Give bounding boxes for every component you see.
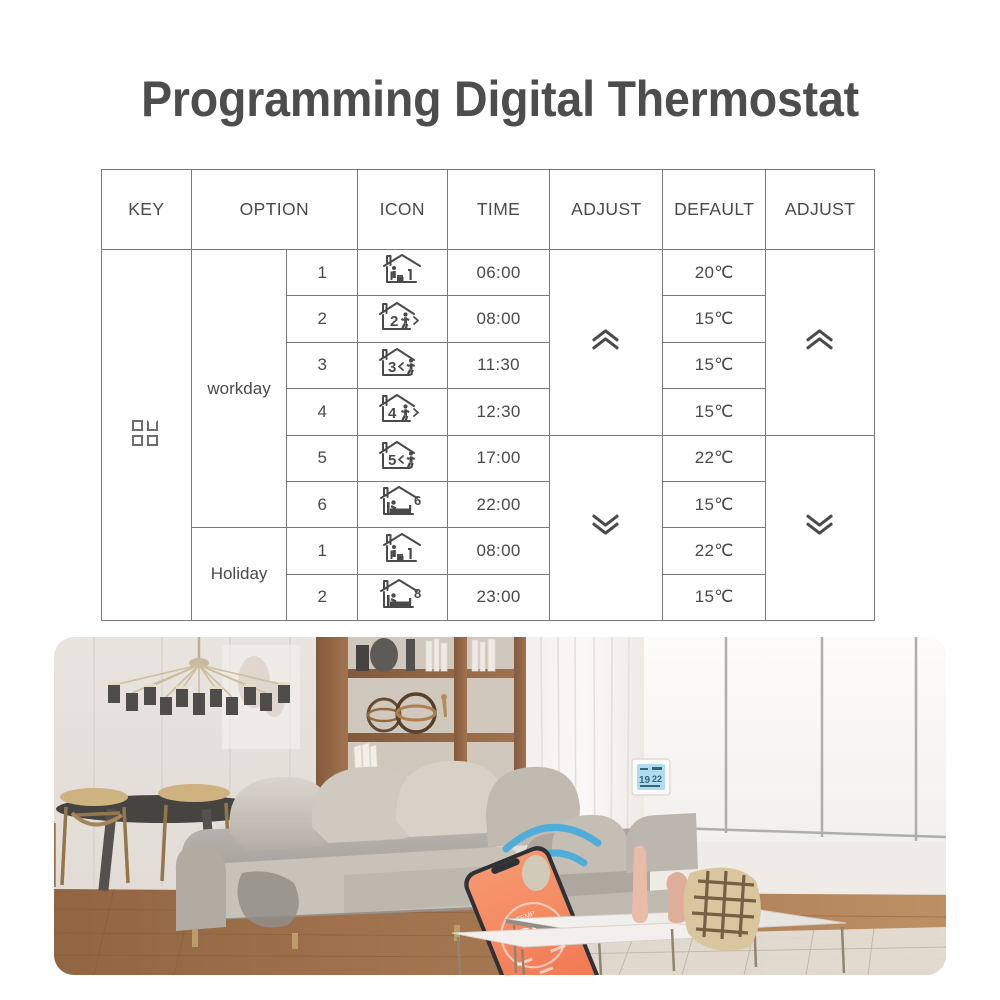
time-value: 08:00 xyxy=(447,296,550,342)
option-number: 6 xyxy=(287,481,358,527)
table-row: workday 1 xyxy=(102,250,875,296)
svg-text:8: 8 xyxy=(414,586,421,601)
thermostat-program-table: KEY OPTION ICON TIME ADJUST DEFAULT ADJU… xyxy=(101,169,875,621)
option-group-workday: workday xyxy=(191,250,287,528)
time-value: 12:30 xyxy=(447,389,550,435)
double-chevron-up-icon[interactable] xyxy=(766,250,875,436)
table-row: Holiday 1 xyxy=(102,528,875,574)
house-wakeup-1-icon xyxy=(357,528,447,574)
house-leave-4-icon: 4 xyxy=(357,389,447,435)
time-value: 08:00 xyxy=(447,528,550,574)
house-wakeup-1-icon xyxy=(357,250,447,296)
option-number: 1 xyxy=(287,528,358,574)
option-number: 4 xyxy=(287,389,358,435)
option-number: 2 xyxy=(287,574,358,620)
column-header-key: KEY xyxy=(102,170,192,250)
option-group-holiday: Holiday xyxy=(191,528,287,621)
svg-text:2: 2 xyxy=(390,313,398,330)
time-value: 23:00 xyxy=(447,574,550,620)
column-header-default: DEFAULT xyxy=(663,170,766,250)
column-header-adjust-temp: ADJUST xyxy=(766,170,875,250)
svg-text:3: 3 xyxy=(388,359,396,376)
column-header-icon: ICON xyxy=(357,170,447,250)
house-sleep-2-icon: 8 xyxy=(357,574,447,620)
option-number: 3 xyxy=(287,342,358,388)
living-room-photo: 19 22 35 TEMP xyxy=(54,637,946,975)
house-sleep-6-icon: 6 xyxy=(357,481,447,527)
default-temp-value: 15℃ xyxy=(663,574,766,620)
house-leave-2-icon: 2 xyxy=(357,296,447,342)
house-return-5-icon: 5 xyxy=(357,435,447,481)
time-value: 22:00 xyxy=(447,481,550,527)
page-title: Programming Digital Thermostat xyxy=(35,70,965,128)
default-temp-value: 15℃ xyxy=(663,481,766,527)
table-header-row: KEY OPTION ICON TIME ADJUST DEFAULT ADJU… xyxy=(102,170,875,250)
double-chevron-down-icon[interactable] xyxy=(766,435,875,621)
default-temp-value: 22℃ xyxy=(663,528,766,574)
double-chevron-down-icon[interactable] xyxy=(550,435,663,621)
option-number: 5 xyxy=(287,435,358,481)
time-value: 17:00 xyxy=(447,435,550,481)
default-temp-value: 15℃ xyxy=(663,296,766,342)
time-value: 11:30 xyxy=(447,342,550,388)
option-number: 1 xyxy=(287,250,358,296)
key-cell xyxy=(102,250,192,621)
svg-text:6: 6 xyxy=(414,493,421,508)
column-header-time: TIME xyxy=(447,170,550,250)
column-header-adjust-time: ADJUST xyxy=(550,170,663,250)
grid-2x2-icon xyxy=(131,418,161,448)
house-return-3-icon: 3 xyxy=(357,342,447,388)
default-temp-value: 15℃ xyxy=(663,389,766,435)
default-temp-value: 22℃ xyxy=(663,435,766,481)
column-header-option: OPTION xyxy=(191,170,357,250)
default-temp-value: 15℃ xyxy=(663,342,766,388)
option-number: 2 xyxy=(287,296,358,342)
time-value: 06:00 xyxy=(447,250,550,296)
double-chevron-up-icon[interactable] xyxy=(550,250,663,436)
default-temp-value: 20℃ xyxy=(663,250,766,296)
svg-text:4: 4 xyxy=(388,405,397,422)
svg-text:5: 5 xyxy=(388,452,396,469)
